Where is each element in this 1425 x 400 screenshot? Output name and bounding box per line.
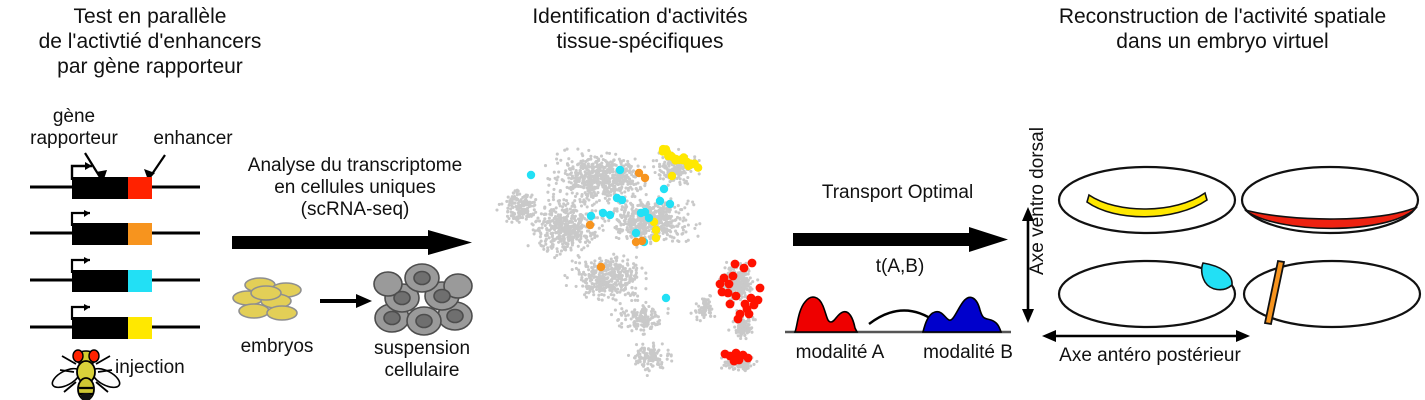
gene-body-red	[72, 177, 128, 199]
panel-title-left: Test en parallèle de l'activtié d'enhanc…	[0, 4, 300, 79]
cell-suspension-icon	[372, 258, 477, 340]
transport-optimal-label: Transport Optimal	[790, 182, 1005, 204]
antero-posterior-axis-label: Axe antéro postérieur	[1035, 345, 1265, 367]
dissociation-arrow-icon	[320, 292, 376, 312]
construct-red	[30, 162, 200, 199]
modality-b-curve	[923, 297, 1001, 332]
figure-root: Test en parallèle de l'activtié d'enhanc…	[0, 0, 1425, 400]
gene-body-orange	[72, 223, 128, 245]
scrnaseq-arrow-label: Analyse du transcriptome en cellules uni…	[230, 155, 480, 221]
enhancer-block-red	[128, 177, 152, 199]
construct-yellow	[30, 304, 200, 339]
umap-scatter-plot	[490, 108, 800, 400]
embryos-icon	[232, 272, 322, 334]
embryo-red	[1240, 160, 1425, 245]
panel-title-middle: Identification d'activités tissue-spécif…	[470, 4, 810, 54]
panel-title-right: Reconstruction de l'activité spatiale da…	[1020, 4, 1425, 54]
construct-orange	[30, 210, 200, 245]
enhancer-block-cyan	[128, 270, 152, 292]
enhancer-block-yellow	[128, 317, 152, 339]
transport-cost-label: t(A,B)	[845, 256, 955, 278]
injection-label: injection	[115, 357, 235, 379]
umap-background-points	[495, 147, 759, 378]
embryo-yellow	[1055, 160, 1240, 245]
modality-a-curve	[795, 297, 857, 332]
construct-cyan	[30, 257, 200, 292]
ventro-dorsal-axis-label: Axe ventro dorsal	[1027, 121, 1049, 281]
embryos-label: embryos	[222, 336, 332, 358]
gene-body-yellow	[72, 317, 128, 339]
embryo-orange	[1240, 252, 1425, 337]
scrnaseq-arrow-icon	[232, 228, 478, 262]
modality-distributions	[783, 280, 1013, 340]
transport-optimal-arrow-icon	[793, 226, 1013, 258]
modality-a-label: modalité A	[780, 342, 900, 364]
embryo-outline	[1059, 167, 1235, 233]
enhancer-block-orange	[128, 223, 152, 245]
embryo-cyan	[1055, 252, 1240, 337]
suspension-label: suspension cellulaire	[352, 338, 492, 382]
modality-b-label: modalité B	[908, 342, 1028, 364]
umap-highlight-points	[527, 145, 765, 366]
reporter-construct-diagram	[0, 100, 250, 400]
gene-body-cyan	[72, 270, 128, 292]
fly-icon	[49, 350, 122, 400]
